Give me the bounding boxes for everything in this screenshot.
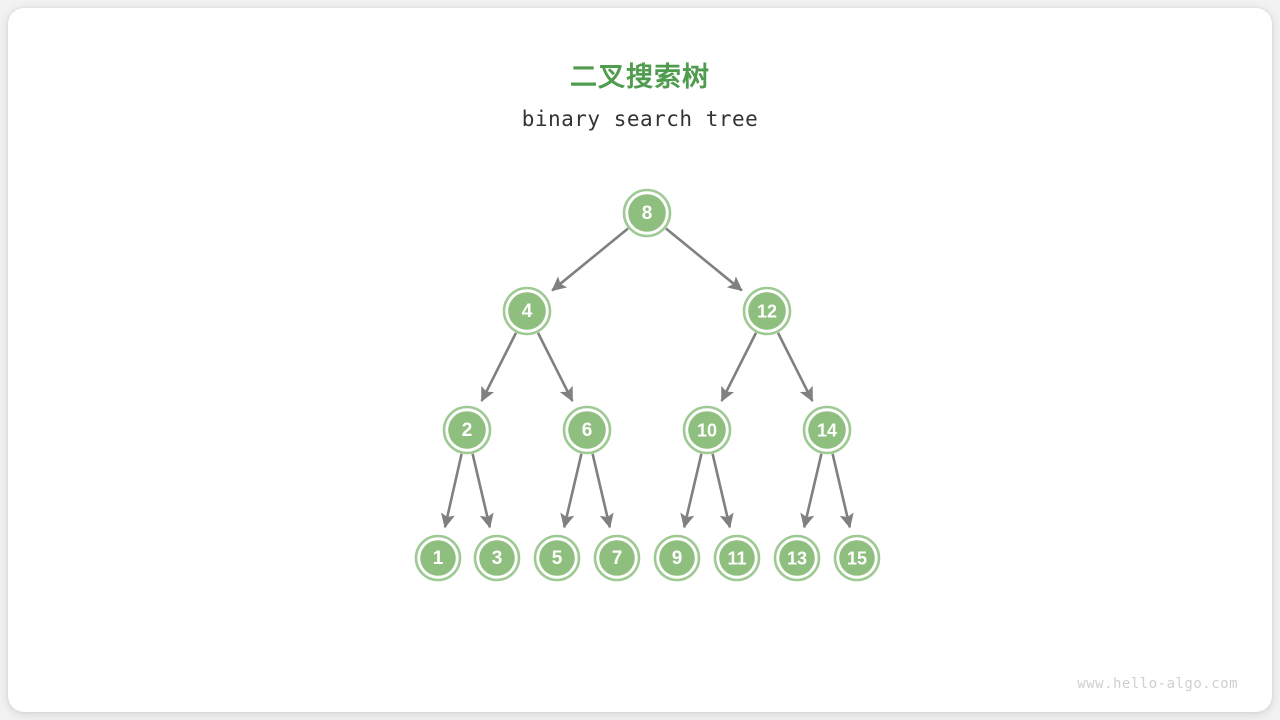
tree-node-1[interactable]: 1 [416,536,460,580]
edge-layer [445,228,850,527]
node-disc [420,540,456,576]
tree-node-4[interactable]: 4 [504,288,550,334]
tree-node-11[interactable]: 11 [715,536,759,580]
node-layer: 841226101413579111315 [416,190,879,580]
screenshot-canvas: 二叉搜索树 binary search tree 841226101413579… [0,0,1280,720]
tree-edge [593,454,610,527]
tree-node-3[interactable]: 3 [475,536,519,580]
tree-edge [445,454,462,527]
tree-node-14[interactable]: 14 [804,407,850,453]
tree-edge [778,333,812,401]
tree-edge [564,454,581,527]
tree-edge [482,333,516,401]
tree-node-15[interactable]: 15 [835,536,879,580]
tree-node-7[interactable]: 7 [595,536,639,580]
tree-edge [552,228,628,290]
tree-node-13[interactable]: 13 [775,536,819,580]
node-disc [628,194,666,232]
tree-edge [713,454,730,527]
tree-node-9[interactable]: 9 [655,536,699,580]
tree-edge [722,333,756,401]
binary-search-tree-diagram: 841226101413579111315 [8,8,1272,712]
tree-edge [684,454,701,527]
node-disc [599,540,635,576]
tree-node-10[interactable]: 10 [684,407,730,453]
tree-node-2[interactable]: 2 [444,407,490,453]
node-disc [448,411,486,449]
tree-node-5[interactable]: 5 [535,536,579,580]
node-disc [568,411,606,449]
site-watermark: www.hello-algo.com [1077,676,1238,692]
node-disc [748,292,786,330]
node-disc [688,411,726,449]
tree-edge [538,333,572,401]
tree-node-6[interactable]: 6 [564,407,610,453]
diagram-card: 二叉搜索树 binary search tree 841226101413579… [8,8,1272,712]
node-disc [479,540,515,576]
tree-node-8[interactable]: 8 [624,190,670,236]
tree-edge [833,454,850,527]
node-disc [508,292,546,330]
node-disc [808,411,846,449]
node-disc [659,540,695,576]
tree-edge [804,454,821,527]
node-disc [839,540,875,576]
node-disc [779,540,815,576]
node-disc [719,540,755,576]
tree-edge [666,228,742,290]
tree-node-12[interactable]: 12 [744,288,790,334]
tree-edge [473,454,490,527]
node-disc [539,540,575,576]
